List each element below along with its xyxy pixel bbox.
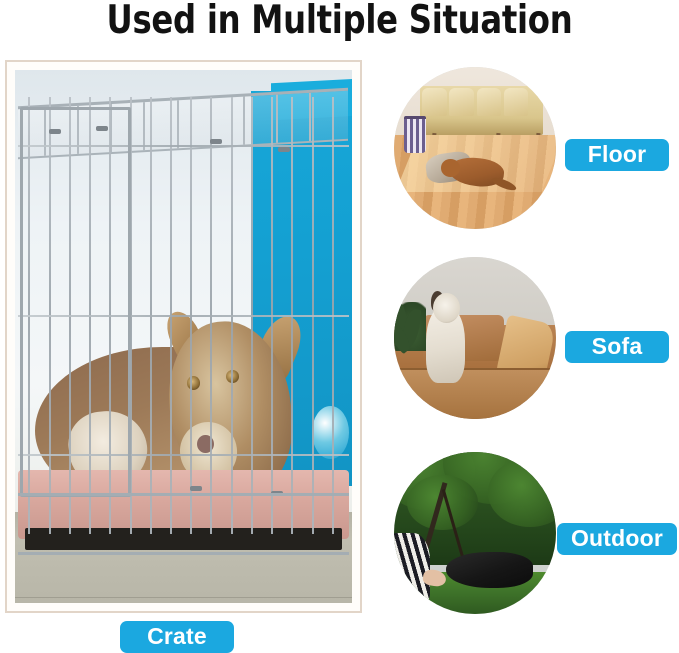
crate-top-wire	[144, 102, 146, 150]
page-title: Used in Multiple Situation	[27, 0, 652, 44]
crate-base-rail	[18, 493, 348, 496]
floor-scene-sofa	[420, 86, 543, 135]
crate-latch	[96, 126, 108, 131]
crate-door-frame	[20, 107, 130, 497]
label-badge-outdoor[interactable]: Outdoor	[557, 523, 677, 555]
crate-photo	[15, 70, 352, 603]
thumbnail-sofa[interactable]	[394, 257, 556, 419]
crate-top-wire	[276, 94, 278, 142]
floor-scene-cushion	[422, 88, 447, 115]
label-badge-crate[interactable]: Crate	[120, 621, 234, 653]
outdoor-scene-person	[394, 533, 430, 601]
floor-scene-cushion	[449, 88, 474, 115]
crate-base-rail	[18, 552, 348, 555]
tile-seam	[15, 597, 352, 598]
crate-latch	[49, 129, 61, 134]
crate-photo-frame	[5, 60, 362, 613]
crate-tray	[25, 528, 342, 549]
ball-toy	[312, 406, 349, 459]
sofa-scene-plant	[394, 302, 426, 351]
floor-scene-cushion	[477, 88, 502, 115]
crate-latch	[210, 139, 222, 144]
crate-top-wire	[177, 100, 179, 148]
outdoor-scene-dog	[446, 552, 533, 588]
thumbnail-outdoor[interactable]	[394, 452, 556, 614]
crate-latch	[278, 147, 290, 152]
label-badge-floor[interactable]: Floor	[565, 139, 669, 171]
crate-latch	[190, 486, 202, 491]
floor-scene-cushion	[504, 88, 529, 115]
label-badge-sofa[interactable]: Sofa	[565, 331, 669, 363]
thumbnail-floor[interactable]	[394, 67, 556, 229]
floor-scene-trash-bin	[404, 116, 427, 153]
sofa-scene-seat	[394, 368, 556, 419]
crate-top-wire	[243, 96, 245, 144]
